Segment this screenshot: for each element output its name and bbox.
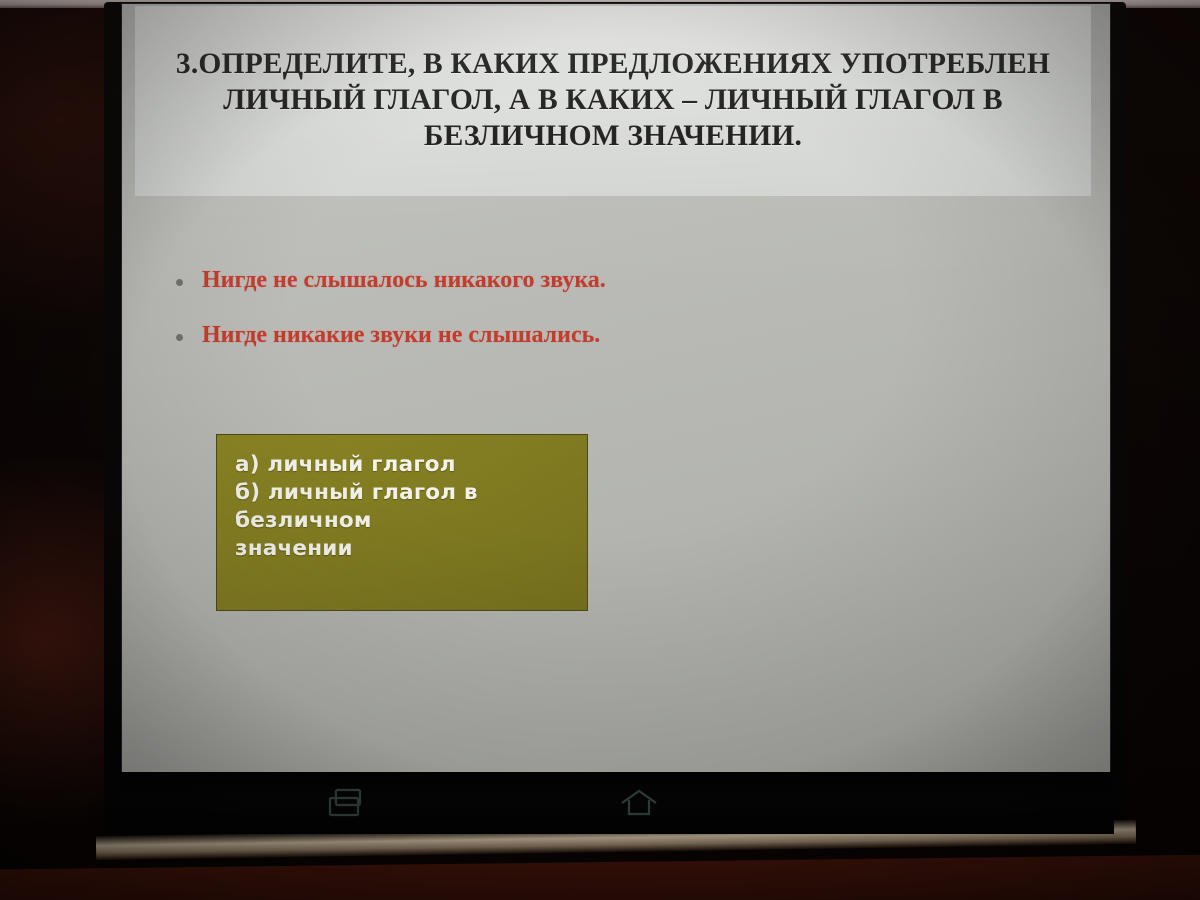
presentation-slide: 3.ОПРЕДЕЛИТЕ, В КАКИХ ПРЕДЛОЖЕНИЯХ УПОТР…: [122, 4, 1110, 772]
answer-option-a: а) личный глагол: [235, 451, 569, 479]
list-item: Нигде не слышалось никакого звука.: [176, 266, 916, 295]
sentence-bullet-list: Нигде не слышалось никакого звука. Нигде…: [176, 266, 916, 377]
answer-option-b-line2: безличном: [235, 507, 569, 535]
list-item-label: Нигде не слышалось никакого звука.: [202, 266, 606, 295]
recents-overlapping-squares-icon: [320, 786, 374, 820]
recents-button[interactable]: [320, 786, 374, 820]
bullet-dot-icon: [176, 279, 183, 286]
answer-options-box: а) личный глагол б) личный глагол в безл…: [216, 434, 588, 611]
list-item: Нигде никакие звуки не слышались.: [176, 321, 916, 350]
page-title: 3.ОПРЕДЕЛИТЕ, В КАКИХ ПРЕДЛОЖЕНИЯХ УПОТР…: [135, 47, 1091, 154]
bullet-dot-icon: [176, 334, 183, 341]
answer-option-b-line1: б) личный глагол в: [235, 479, 569, 507]
home-button[interactable]: [612, 786, 666, 820]
list-item-label: Нигде никакие звуки не слышались.: [202, 321, 600, 350]
android-navigation-bar: [118, 772, 1114, 834]
home-icon: [612, 786, 666, 820]
slide-title-banner: 3.ОПРЕДЕЛИТЕ, В КАКИХ ПРЕДЛОЖЕНИЯХ УПОТР…: [135, 6, 1091, 196]
photo-of-tablet-showing-presentation: 3.ОПРЕДЕЛИТЕ, В КАКИХ ПРЕДЛОЖЕНИЯХ УПОТР…: [0, 0, 1200, 900]
answer-option-b-line3: значении: [235, 535, 569, 563]
